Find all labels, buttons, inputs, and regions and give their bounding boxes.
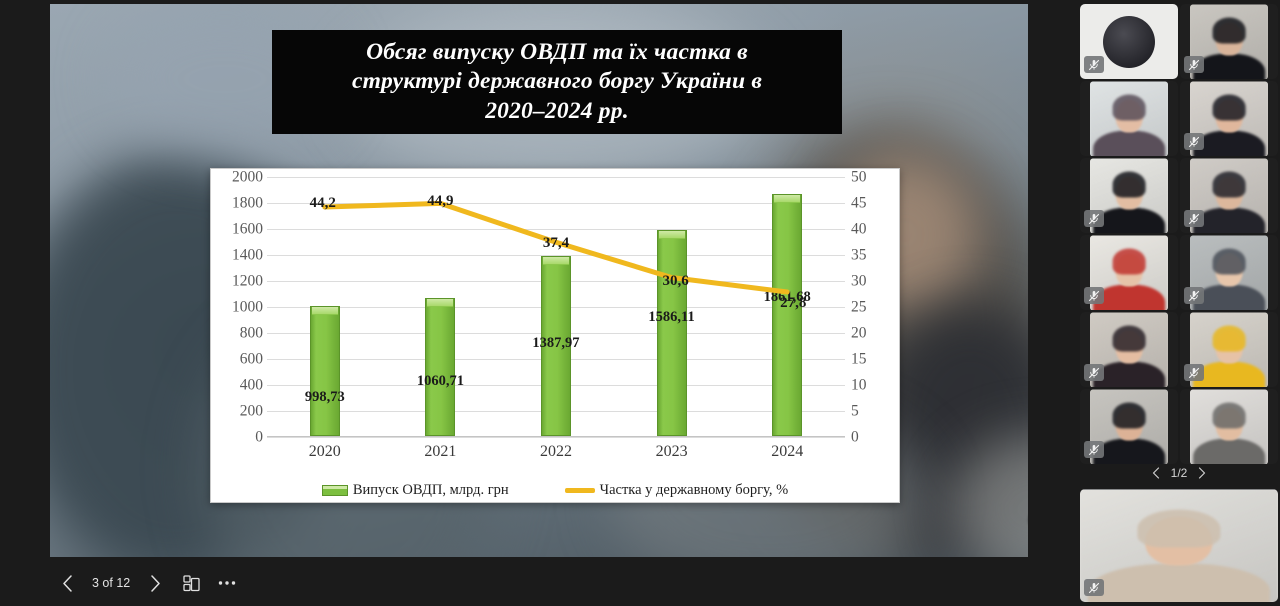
legend-label-line: Частка у державному боргу, % [600, 482, 789, 499]
previous-slide-button[interactable] [50, 568, 84, 598]
y-axis-left-tick: 400 [219, 377, 263, 393]
y-axis-left-tick: 1800 [219, 195, 263, 211]
legend-label-bars: Випуск ОВДП, млрд. грн [353, 482, 509, 499]
y-axis-left-tick: 1600 [219, 221, 263, 237]
self-video-tile[interactable] [1080, 489, 1278, 602]
y-axis-right-tick: 10 [847, 377, 891, 393]
person-hair [1113, 172, 1146, 198]
person-hair [1213, 18, 1246, 44]
mic-muted-badge [1084, 210, 1104, 227]
y-axis-left-tick: 600 [219, 351, 263, 367]
plot-area: 998,731060,711387,971586,111861,68 44,24… [267, 177, 845, 437]
y-axis-left-tick: 1200 [219, 273, 263, 289]
chevron-left-icon [1152, 467, 1160, 479]
microphone-muted-icon [1088, 59, 1100, 71]
microphone-muted-icon [1188, 59, 1200, 71]
y-axis-left-tick: 0 [219, 429, 263, 445]
legend-swatch-line-icon [565, 488, 595, 493]
y-axis-left-tick: 1000 [219, 299, 263, 315]
participant-tile-10[interactable] [1180, 312, 1278, 387]
legend-item-bars: Випуск ОВДП, млрд. грн [322, 482, 509, 499]
person-hair [1137, 509, 1220, 547]
microphone-muted-icon [1088, 444, 1100, 456]
meeting-screen-share-window: Обсяг випуску ОВДП та їх частка в структ… [0, 0, 1280, 606]
chart-plot-container: 0200400600800100012001400160018002000 05… [217, 177, 893, 498]
ellipsis-icon [218, 580, 236, 586]
person-hair [1213, 95, 1246, 121]
mic-muted-badge [1184, 56, 1204, 73]
slide-counter-label: 3 of 12 [86, 576, 136, 590]
line-value-label: 44,2 [310, 195, 336, 212]
microphone-muted-icon [1088, 367, 1100, 379]
line-value-label: 30,6 [662, 273, 688, 290]
y-axis-right-tick: 15 [847, 351, 891, 367]
line-value-label: 44,9 [427, 193, 453, 210]
slide-navigation-toolbar: 3 of 12 [50, 562, 650, 604]
person-hair [1213, 249, 1246, 275]
participant-tile-1[interactable] [1080, 4, 1178, 79]
microphone-muted-icon [1188, 367, 1200, 379]
avatar [1103, 16, 1155, 68]
presentation-stage: Обсяг випуску ОВДП та їх частка в структ… [0, 0, 1072, 606]
participant-tile-5[interactable] [1080, 158, 1178, 233]
y-axis-right: 05101520253035404550 [847, 177, 891, 437]
person-hair [1113, 249, 1146, 275]
slide-title: Обсяг випуску ОВДП та їх частка в структ… [352, 38, 762, 125]
participant-video-rail: 1/2 [1078, 0, 1280, 606]
microphone-muted-icon [1088, 290, 1100, 302]
y-axis-right-tick: 5 [847, 403, 891, 419]
participant-tile-9[interactable] [1080, 312, 1178, 387]
participants-previous-page-button[interactable] [1148, 464, 1164, 482]
mic-muted-badge [1184, 210, 1204, 227]
slide-title-box: Обсяг випуску ОВДП та їх частка в структ… [272, 30, 842, 134]
person-hair [1213, 326, 1246, 352]
y-axis-left-tick: 2000 [219, 169, 263, 185]
x-axis-tick: 2021 [424, 443, 456, 461]
participant-tile-6[interactable] [1180, 158, 1278, 233]
legend-item-line: Частка у державному боргу, % [565, 482, 789, 499]
mic-muted-badge [1184, 133, 1204, 150]
person-hair [1213, 403, 1246, 429]
chevron-left-icon [62, 575, 73, 592]
chevron-right-icon [1198, 467, 1206, 479]
layout-options-button[interactable] [174, 568, 208, 598]
x-axis: 20202021202220232024 [267, 443, 845, 469]
chart-card: 0200400600800100012001400160018002000 05… [210, 168, 900, 503]
participant-tile-12[interactable] [1180, 389, 1278, 464]
chevron-right-icon [150, 575, 161, 592]
participant-tile-8[interactable] [1180, 235, 1278, 310]
chart-legend: Випуск ОВДП, млрд. грн Частка у державно… [217, 477, 893, 503]
y-axis-right-tick: 20 [847, 325, 891, 341]
y-axis-right-tick: 25 [847, 299, 891, 315]
mic-muted-badge [1184, 364, 1204, 381]
participant-tile-4[interactable] [1180, 81, 1278, 156]
person-hair [1113, 403, 1146, 429]
participant-pager: 1/2 [1078, 461, 1280, 485]
person-hair [1213, 172, 1246, 198]
more-options-button[interactable] [210, 568, 244, 598]
participants-page-label: 1/2 [1171, 466, 1188, 480]
x-axis-tick: 2022 [540, 443, 572, 461]
line-value-label: 37,4 [543, 235, 569, 252]
y-axis-right-tick: 50 [847, 169, 891, 185]
mic-muted-badge [1084, 287, 1104, 304]
mic-muted-badge [1084, 56, 1104, 73]
microphone-muted-icon [1188, 213, 1200, 225]
mic-muted-badge [1084, 364, 1104, 381]
presentation-slide[interactable]: Обсяг випуску ОВДП та їх частка в структ… [50, 4, 1028, 557]
y-axis-right-tick: 40 [847, 221, 891, 237]
mic-muted-badge [1084, 579, 1104, 596]
participant-tiles-grid [1078, 4, 1280, 456]
mic-muted-badge [1084, 441, 1104, 458]
participant-tile-2[interactable] [1180, 4, 1278, 79]
participant-tile-11[interactable] [1080, 389, 1178, 464]
slide-photo-blur-9 [950, 434, 1028, 557]
video-frame [1080, 489, 1278, 602]
grid-layout-icon [183, 575, 200, 592]
participant-tile-7[interactable] [1080, 235, 1178, 310]
next-slide-button[interactable] [138, 568, 172, 598]
y-axis-left-tick: 200 [219, 403, 263, 419]
y-axis-right-tick: 0 [847, 429, 891, 445]
microphone-muted-icon [1088, 213, 1100, 225]
y-axis-left-tick: 1400 [219, 247, 263, 263]
microphone-muted-icon [1188, 136, 1200, 148]
participant-tile-3[interactable] [1080, 81, 1178, 156]
microphone-muted-icon [1088, 582, 1100, 594]
microphone-muted-icon [1188, 290, 1200, 302]
x-axis-tick: 2020 [309, 443, 341, 461]
line-series [267, 177, 845, 436]
legend-swatch-bar-icon [322, 485, 348, 496]
person-shoulders [1093, 131, 1165, 157]
x-axis-tick: 2024 [771, 443, 803, 461]
y-axis-right-tick: 30 [847, 273, 891, 289]
y-axis-right-tick: 45 [847, 195, 891, 211]
x-axis-tick: 2023 [656, 443, 688, 461]
participants-next-page-button[interactable] [1194, 464, 1210, 482]
gridline [267, 437, 845, 438]
person-hair [1113, 95, 1146, 121]
video-frame [1090, 81, 1168, 156]
video-frame [1190, 389, 1268, 464]
person-hair [1113, 326, 1146, 352]
line-value-label: 27,8 [780, 295, 806, 312]
y-axis-left: 0200400600800100012001400160018002000 [219, 177, 263, 437]
y-axis-right-tick: 35 [847, 247, 891, 263]
y-axis-left-tick: 800 [219, 325, 263, 341]
mic-muted-badge [1184, 287, 1204, 304]
